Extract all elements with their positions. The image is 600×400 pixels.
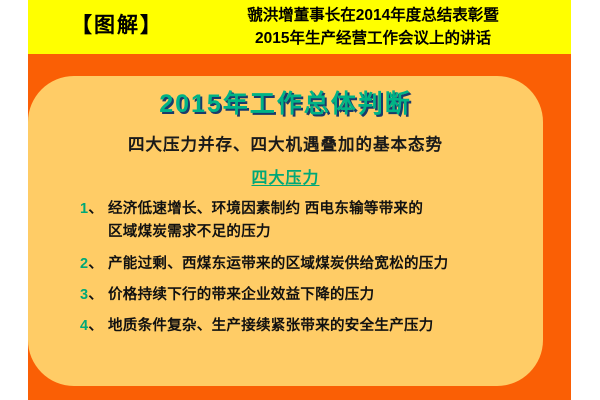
list-item-number: 1、: [80, 198, 106, 221]
list-item-line: 经济低速增长、环境因素制约 西电东输等带来的: [108, 198, 530, 221]
list-item-separator: 、: [88, 287, 103, 303]
header-title-line-2: 2015年生产经营工作会议上的讲话: [188, 27, 558, 50]
list-item-line: 产能过剩、西煤东运带来的区域煤炭供给宽松的压力: [108, 253, 530, 276]
panel-section-heading: 四大压力: [28, 164, 543, 188]
list-item: 4、 地质条件复杂、生产接续紧张带来的安全生产压力: [80, 315, 530, 338]
list-item-text: 地质条件复杂、生产接续紧张带来的安全生产压力: [108, 315, 530, 338]
list-item-text: 产能过剩、西煤东运带来的区域煤炭供给宽松的压力: [108, 253, 530, 276]
list-item-number: 4、: [80, 315, 106, 338]
list-item: 1、 经济低速增长、环境因素制约 西电东输等带来的 区域煤炭需求不足的压力: [80, 198, 530, 244]
header-band: 【图解】 虢洪增董事长在2014年度总结表彰暨 2015年生产经营工作会议上的讲…: [28, 0, 571, 54]
pressure-list: 1、 经济低速增长、环境因素制约 西电东输等带来的 区域煤炭需求不足的压力 2、…: [80, 198, 530, 346]
header-title-line-1: 虢洪增董事长在2014年度总结表彰暨: [188, 4, 558, 27]
list-item-separator: 、: [88, 318, 103, 334]
panel-subtitle: 四大压力并存、四大机遇叠加的基本态势: [28, 131, 543, 155]
list-item-line: 区域煤炭需求不足的压力: [108, 221, 530, 244]
header-title: 虢洪增董事长在2014年度总结表彰暨 2015年生产经营工作会议上的讲话: [188, 4, 558, 50]
list-item-text: 价格持续下行的带来企业效益下降的压力: [108, 284, 530, 307]
list-item: 3、 价格持续下行的带来企业效益下降的压力: [80, 284, 530, 307]
list-item-separator: 、: [88, 201, 103, 217]
header-tag-label: 【图解】: [54, 9, 180, 43]
list-item-separator: 、: [88, 256, 103, 272]
list-item-text: 经济低速增长、环境因素制约 西电东输等带来的 区域煤炭需求不足的压力: [108, 198, 530, 244]
list-item: 2、 产能过剩、西煤东运带来的区域煤炭供给宽松的压力: [80, 253, 530, 276]
content-panel: 2015年工作总体判断 四大压力并存、四大机遇叠加的基本态势 四大压力 1、 经…: [28, 76, 543, 386]
panel-title: 2015年工作总体判断: [28, 84, 543, 120]
list-item-line: 地质条件复杂、生产接续紧张带来的安全生产压力: [108, 315, 530, 338]
list-item-number: 3、: [80, 284, 106, 307]
list-item-number: 2、: [80, 253, 106, 276]
list-item-line: 价格持续下行的带来企业效益下降的压力: [108, 284, 530, 307]
slide-canvas: 【图解】 虢洪增董事长在2014年度总结表彰暨 2015年生产经营工作会议上的讲…: [28, 0, 571, 400]
